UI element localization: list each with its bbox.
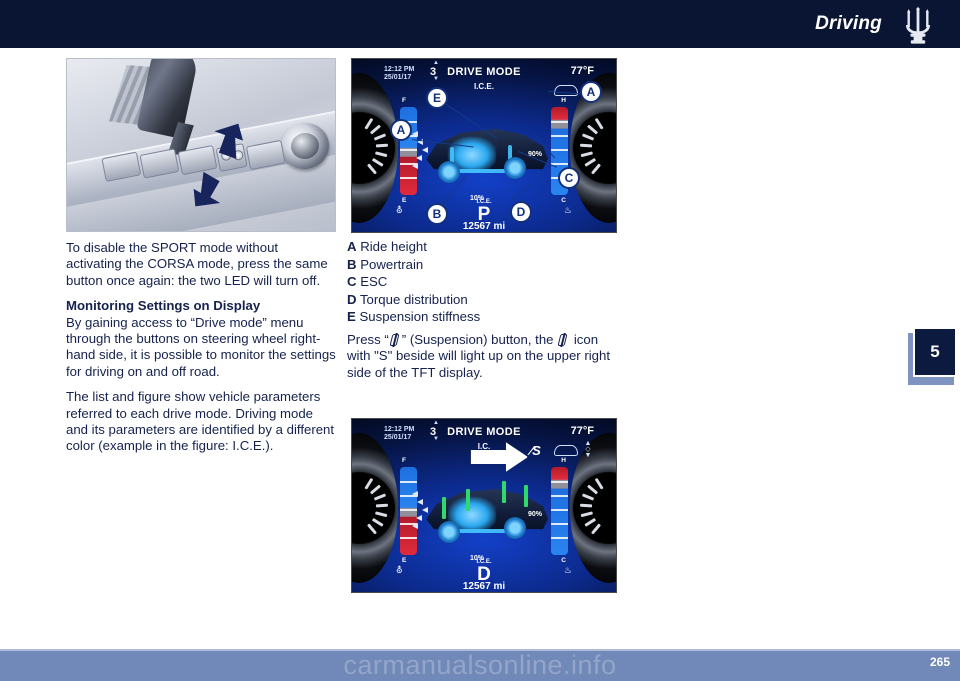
legend-key-a: A (347, 239, 357, 254)
rear-wheel (504, 157, 526, 179)
console-button-1 (101, 152, 141, 182)
callout-a-left: A (390, 119, 412, 141)
header-divider (0, 48, 960, 50)
legend-label-c: ESC (360, 274, 387, 289)
legend-label-d: Torque distribution (360, 292, 468, 307)
callout-b: B (426, 203, 448, 225)
left-text-column: To disable the SPORT mode without activa… (66, 240, 336, 464)
page-title: Driving (815, 13, 882, 35)
outside-temperature: 77°F (571, 65, 594, 77)
legend-item-d: D Torque distribution (347, 291, 617, 309)
legend-item-c: C ESC (347, 273, 617, 291)
press-text-part-1: Press “ (347, 332, 389, 347)
legend-label-e: Suspension stiffness (359, 309, 480, 324)
fuel-full-label-2: F (402, 457, 406, 464)
paragraph-list-and-figure: The list and figure show vehicle paramet… (66, 389, 336, 455)
callout-a-right: A (580, 81, 602, 103)
suspension-icon (391, 333, 400, 347)
legend-label-b: Powertrain (360, 257, 423, 272)
press-text-part-2: ” (Suspension) button, the (402, 332, 554, 347)
temp-hot-label: H (561, 97, 566, 104)
callout-d: D (510, 201, 532, 223)
tft-status-bar: 12:12 PM 25/01/17 ▲ 3 ▼ DRIVE MODE I.C.E… (352, 63, 616, 93)
odometer-2: 12567 mi (352, 581, 616, 592)
ride-height-arrows-icon-2: ▲◇▼ (582, 441, 594, 459)
outside-temperature-2: 77°F (571, 425, 594, 437)
legend-key-c: C (347, 274, 357, 289)
tft-status-bar-2: 12:12 PM 25/01/17 ▲ 3 ▼ DRIVE MODE I.C. … (352, 423, 616, 453)
center-console-sport-button-photo (66, 58, 336, 232)
tft-display-sport-suspension: 12:12 PM 25/01/17 ▲ 3 ▼ DRIVE MODE I.C. … (351, 418, 617, 593)
ride-height-car-icon-2 (554, 445, 578, 456)
fuel-full-label: F (402, 97, 406, 104)
maserati-trident-logo (898, 6, 938, 44)
suspension-sport-icon: ∕S (530, 443, 541, 458)
page-header: Driving (0, 0, 960, 48)
callout-e: E (426, 87, 448, 109)
legend-item-a: A Ride height (347, 238, 617, 256)
legend-item-b: B Powertrain (347, 256, 617, 274)
callout-c: C (558, 167, 580, 189)
subheading-monitoring-settings: Monitoring Settings on Display (66, 298, 336, 314)
strut-rear-left (502, 481, 506, 503)
odometer: 12567 mi (352, 221, 616, 232)
page-number: 265 (930, 655, 950, 669)
paragraph-drive-mode-menu: By gaining access to “Drive mode” menu t… (66, 315, 336, 381)
vehicle-graphic (424, 107, 548, 193)
rear-torque-value-2: 90% (528, 511, 542, 518)
legend-key-d: D (347, 292, 357, 307)
paragraph-press-suspension: Press “” (Suspension) button, the icon w… (347, 332, 617, 381)
vehicle-graphic-2 (424, 467, 548, 553)
ride-height-car-icon (554, 85, 578, 96)
temp-hot-label-2: H (561, 457, 566, 464)
legend-item-e: E Suspension stiffness (347, 308, 617, 326)
tft-display-drive-mode: 12:12 PM 25/01/17 ▲ 3 ▼ DRIVE MODE I.C.E… (351, 58, 617, 233)
strut-rear-right (524, 485, 528, 507)
front-wheel-2 (438, 521, 460, 543)
console-button-2 (139, 148, 179, 178)
legend-key-b: B (347, 257, 357, 272)
paragraph-disable-sport: To disable the SPORT mode without activa… (66, 240, 336, 289)
strut-front-right (466, 489, 470, 511)
rear-wheel-2 (504, 517, 526, 539)
right-text-column: A Ride height B Powertrain C ESC D Torqu… (347, 238, 617, 390)
watermark-text: carmanualsonline.info (0, 650, 960, 680)
front-wheel (438, 161, 460, 183)
tft-background: 12:12 PM 25/01/17 ▲ 3 ▼ DRIVE MODE I.C.E… (352, 59, 616, 232)
legend-label-a: Ride height (360, 239, 427, 254)
chapter-tab-number: 5 (915, 342, 955, 362)
coolant-temp-bar-2 (551, 467, 568, 555)
legend-key-e: E (347, 309, 356, 324)
tft-background-2: 12:12 PM 25/01/17 ▲ 3 ▼ DRIVE MODE I.C. … (352, 419, 616, 592)
suspension-icon-2 (559, 333, 568, 347)
strut-front-left (442, 497, 446, 519)
console-button-3 (178, 145, 218, 175)
chapter-tab[interactable]: 5 (913, 327, 957, 377)
